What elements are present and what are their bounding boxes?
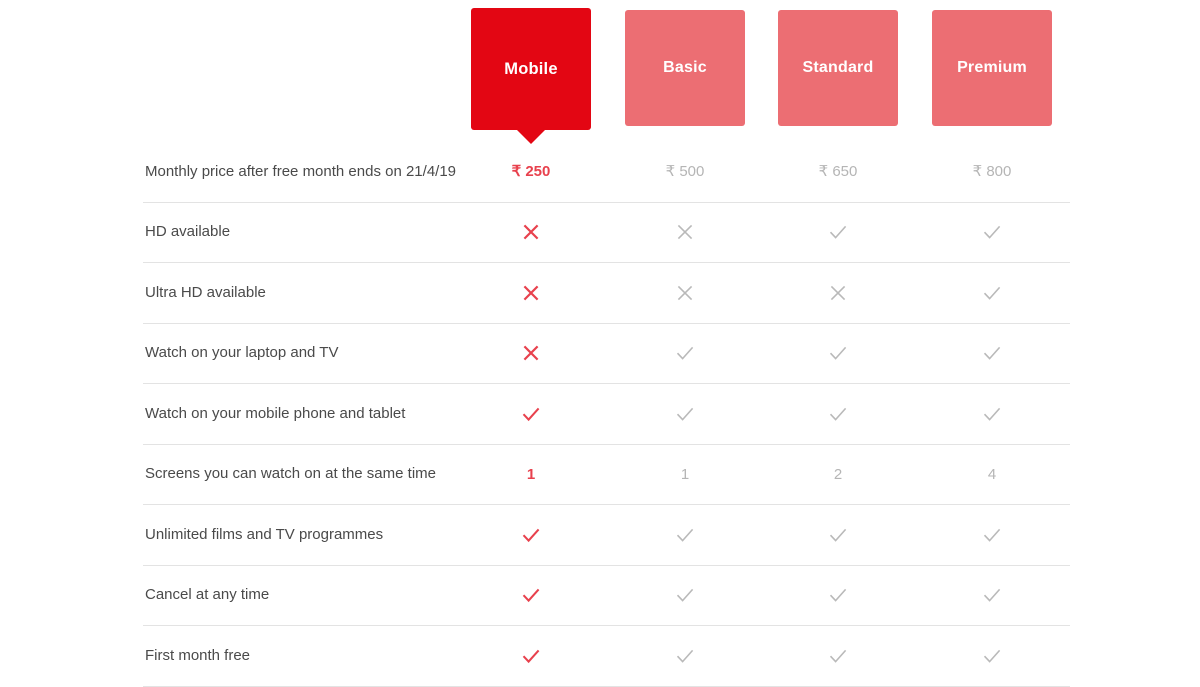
feature-cell: ₹ 500: [625, 142, 745, 202]
feature-cell: [471, 203, 591, 263]
feature-row: Ultra HD available: [143, 263, 1070, 324]
feature-label: HD available: [145, 203, 465, 263]
plan-comparison-table: MobileBasicStandardPremium Monthly price…: [0, 0, 1200, 673]
check-icon: [827, 645, 849, 667]
feature-cell: [778, 263, 898, 323]
feature-label: Watch on your mobile phone and tablet: [145, 384, 465, 444]
feature-cell: [471, 263, 591, 323]
feature-value: 4: [988, 467, 996, 482]
feature-cell: 1: [471, 445, 591, 505]
feature-cell: ₹ 250: [471, 142, 591, 202]
check-icon: [674, 584, 696, 606]
check-icon: [827, 584, 849, 606]
feature-row: Cancel at any time: [143, 566, 1070, 627]
feature-row: HD available: [143, 203, 1070, 264]
plan-tab-mobile[interactable]: Mobile: [471, 8, 591, 130]
check-icon: [827, 221, 849, 243]
check-icon: [674, 524, 696, 546]
feature-cell: 2: [778, 445, 898, 505]
check-icon: [981, 282, 1003, 304]
check-icon: [674, 403, 696, 425]
feature-cell: [625, 626, 745, 686]
feature-label: Ultra HD available: [145, 263, 465, 323]
cross-icon: [827, 282, 849, 304]
check-icon: [981, 221, 1003, 243]
feature-label: First month free: [145, 626, 465, 686]
feature-cell: [932, 626, 1052, 686]
cross-icon: [674, 282, 696, 304]
check-icon: [520, 403, 542, 425]
check-icon: [981, 584, 1003, 606]
check-icon: [827, 342, 849, 364]
feature-label: Unlimited films and TV programmes: [145, 505, 465, 565]
feature-cell: [471, 626, 591, 686]
feature-value: 1: [681, 467, 689, 482]
plan-tab-standard[interactable]: Standard: [778, 10, 898, 126]
feature-cell: [625, 505, 745, 565]
check-icon: [981, 524, 1003, 546]
feature-row: Monthly price after free month ends on 2…: [143, 142, 1070, 203]
feature-cell: [471, 324, 591, 384]
check-icon: [827, 403, 849, 425]
feature-cell: [932, 324, 1052, 384]
check-icon: [674, 342, 696, 364]
feature-value: ₹ 250: [512, 164, 551, 179]
feature-label: Cancel at any time: [145, 566, 465, 626]
plan-tab-premium[interactable]: Premium: [932, 10, 1052, 126]
feature-cell: 1: [625, 445, 745, 505]
feature-cell: [778, 384, 898, 444]
feature-cell: [932, 203, 1052, 263]
cross-icon: [674, 221, 696, 243]
feature-cell: [778, 566, 898, 626]
feature-row: Watch on your laptop and TV: [143, 324, 1070, 385]
feature-cell: [625, 263, 745, 323]
feature-cell: [932, 384, 1052, 444]
feature-cell: [932, 566, 1052, 626]
feature-cell: ₹ 650: [778, 142, 898, 202]
feature-cell: [625, 324, 745, 384]
feature-value: ₹ 650: [819, 164, 858, 179]
check-icon: [520, 524, 542, 546]
feature-value: ₹ 500: [666, 164, 705, 179]
feature-cell: [778, 203, 898, 263]
feature-cell: ₹ 800: [932, 142, 1052, 202]
plan-tabs: MobileBasicStandardPremium: [0, 0, 1200, 140]
feature-cell: [625, 566, 745, 626]
feature-cell: [625, 384, 745, 444]
feature-label: Monthly price after free month ends on 2…: [145, 142, 465, 202]
check-icon: [981, 342, 1003, 364]
plan-tab-label: Premium: [957, 60, 1027, 76]
check-icon: [520, 645, 542, 667]
check-icon: [674, 645, 696, 667]
feature-row: Watch on your mobile phone and tablet: [143, 384, 1070, 445]
check-icon: [981, 645, 1003, 667]
feature-label: Screens you can watch on at the same tim…: [145, 445, 465, 505]
feature-row: Screens you can watch on at the same tim…: [143, 445, 1070, 506]
feature-cell: [471, 505, 591, 565]
cross-icon: [520, 342, 542, 364]
feature-cell: [471, 384, 591, 444]
feature-cell: [778, 626, 898, 686]
cross-icon: [520, 282, 542, 304]
feature-row: First month free: [143, 626, 1070, 687]
plan-tab-label: Mobile: [504, 61, 557, 78]
check-icon: [981, 403, 1003, 425]
feature-cell: [625, 203, 745, 263]
feature-rows: Monthly price after free month ends on 2…: [0, 142, 1200, 687]
feature-cell: [932, 505, 1052, 565]
feature-row: Unlimited films and TV programmes: [143, 505, 1070, 566]
plan-tab-basic[interactable]: Basic: [625, 10, 745, 126]
feature-value: ₹ 800: [973, 164, 1012, 179]
feature-cell: [471, 566, 591, 626]
feature-cell: [932, 263, 1052, 323]
feature-cell: 4: [932, 445, 1052, 505]
plan-tab-label: Standard: [803, 60, 874, 76]
check-icon: [520, 584, 542, 606]
plan-tab-label: Basic: [663, 60, 707, 76]
feature-value: 2: [834, 467, 842, 482]
feature-value: 1: [527, 467, 535, 482]
feature-cell: [778, 324, 898, 384]
check-icon: [827, 524, 849, 546]
feature-cell: [778, 505, 898, 565]
cross-icon: [520, 221, 542, 243]
feature-label: Watch on your laptop and TV: [145, 324, 465, 384]
